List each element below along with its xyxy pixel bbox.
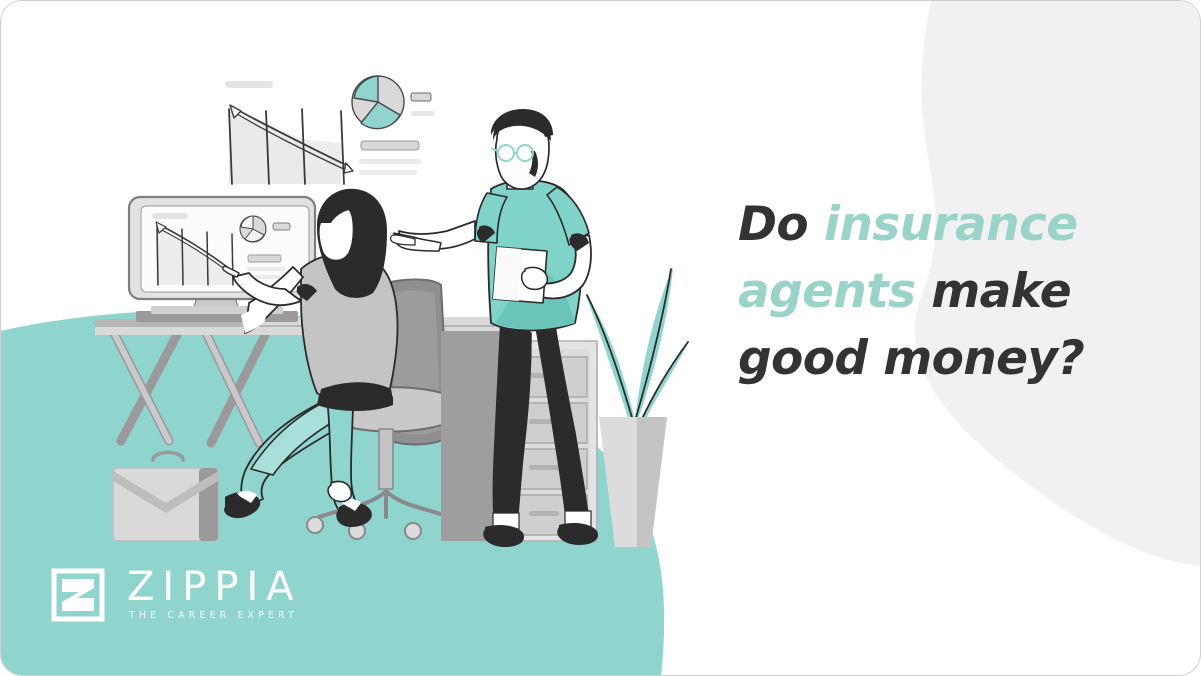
zippia-wordmark: ZIPPIA THE CAREER EXPERT <box>127 567 302 622</box>
potted-plant <box>585 267 689 567</box>
zippia-logo[interactable]: ZIPPIA THE CAREER EXPERT <box>51 567 302 622</box>
logo-name: ZIPPIA <box>127 567 302 607</box>
logo-tagline: THE CAREER EXPERT <box>129 609 302 622</box>
chart-label-placeholder <box>225 81 273 88</box>
floating-pie-chart <box>352 76 435 129</box>
headline-segment-1: Do <box>738 197 824 252</box>
pie-legend-swatch <box>411 93 431 101</box>
floating-bar-chart <box>225 81 353 184</box>
briefcase <box>113 453 218 542</box>
promo-card: Do insurance agents make good money? ZIP… <box>0 0 1201 676</box>
zippia-logo-mark-icon <box>51 568 105 622</box>
floating-text-placeholders <box>359 141 421 175</box>
headline: Do insurance agents make good money? <box>738 191 1138 392</box>
